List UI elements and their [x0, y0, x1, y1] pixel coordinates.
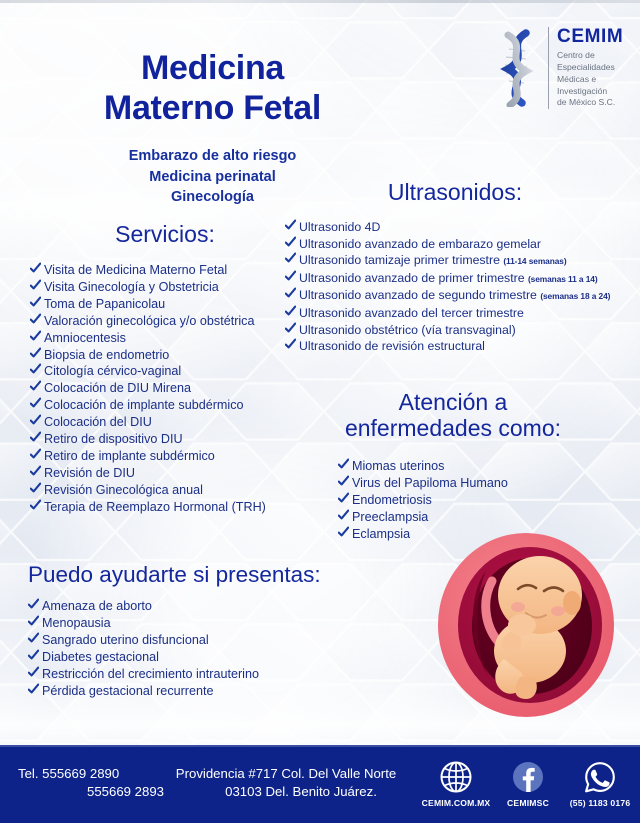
- facebook-link[interactable]: CEMIMSC: [492, 757, 564, 808]
- footer-address-block: Providencia #717 Col. Del Valle Norte 03…: [168, 765, 404, 801]
- list-item-label: Retiro de dispositivo DIU: [44, 432, 183, 446]
- fetus-in-womb-illustration: [434, 527, 618, 723]
- list-item-note: (semanas 18 a 24): [540, 291, 610, 301]
- list-item-label: Ultrasonido avanzado del tercer trimestr…: [299, 306, 524, 320]
- check-arrow-icon: [28, 648, 39, 662]
- list-item-label: Ultrasonido obstétrico (vía transvaginal…: [299, 323, 516, 337]
- ayuda-heading: Puedo ayudarte si presentas:: [28, 562, 321, 587]
- list-item: Retiro de dispositivo DIU: [30, 431, 266, 448]
- top-edge-rule: [0, 0, 640, 3]
- footer-phone-line-2: 555669 2893: [14, 783, 164, 801]
- list-item: Visita de Medicina Materno Fetal: [30, 262, 266, 279]
- check-arrow-icon: [30, 362, 41, 376]
- list-item-label: Ultrasonido 4D: [299, 220, 380, 234]
- check-arrow-icon: [30, 464, 41, 478]
- dna-helix-icon: [492, 29, 540, 107]
- list-item: Biopsia de endometrio: [30, 347, 266, 364]
- list-item: Endometriosis: [338, 492, 508, 509]
- list-item: Valoración ginecológica y/o obstétrica: [30, 313, 266, 330]
- list-item-label: Revisión de DIU: [44, 466, 135, 480]
- list-item-label: Endometriosis: [352, 493, 432, 507]
- list-item-label: Preeclampsia: [352, 510, 428, 524]
- logo-text-block: CEMIM Centro de Especialidades Médicas e…: [548, 27, 623, 109]
- list-item: Preeclampsia: [338, 509, 508, 526]
- logo-tagline-line-5: de México S.C.: [557, 97, 623, 109]
- check-arrow-icon: [30, 413, 41, 427]
- list-item: Visita Ginecología y Obstetricia: [30, 279, 266, 296]
- check-arrow-icon: [30, 498, 41, 512]
- list-item-label: Visita Ginecología y Obstetricia: [44, 280, 219, 294]
- list-item: Terapia de Reemplazo Hormonal (TRH): [30, 499, 266, 516]
- list-item-label: Ultrasonido tamizaje primer trimestre: [299, 253, 500, 267]
- list-item: Colocación de DIU Mirena: [30, 380, 266, 397]
- check-arrow-icon: [30, 329, 41, 343]
- check-arrow-icon: [30, 295, 41, 309]
- enfermedades-heading: Atención a enfermedades como:: [318, 390, 588, 442]
- check-arrow-icon: [28, 665, 39, 679]
- check-arrow-icon: [285, 337, 296, 351]
- list-item: Colocación del DIU: [30, 414, 266, 431]
- list-item-label: Ultrasonido avanzado de embarazo gemelar: [299, 237, 541, 251]
- servicios-list: Visita de Medicina Materno FetalVisita G…: [30, 262, 266, 516]
- ayuda-list: Amenaza de abortoMenopausiaSangrado uter…: [28, 598, 259, 699]
- website-link[interactable]: CEMIM.COM.MX: [420, 757, 492, 808]
- list-item: Citología cérvico-vaginal: [30, 363, 266, 380]
- ultrasonidos-list: Ultrasonido 4DUltrasonido avanzado de em…: [285, 219, 610, 355]
- check-arrow-icon: [30, 481, 41, 495]
- servicios-heading: Servicios:: [40, 222, 290, 248]
- list-item-label: Citología cérvico-vaginal: [44, 364, 181, 378]
- list-item: Amenaza de aborto: [28, 598, 259, 615]
- logo-tagline: Centro de Especialidades Médicas e Inves…: [557, 50, 623, 109]
- check-arrow-icon: [338, 474, 349, 488]
- list-item-label: Biopsia de endometrio: [44, 348, 169, 362]
- logo-brand-name: CEMIM: [557, 27, 623, 46]
- list-item: Miomas uterinos: [338, 458, 508, 475]
- cemim-logo: CEMIM Centro de Especialidades Médicas e…: [492, 27, 623, 109]
- whatsapp-label: (55) 1183 0176: [564, 798, 636, 808]
- whatsapp-icon: [564, 757, 636, 797]
- list-item-label: Pérdida gestacional recurrente: [42, 684, 214, 698]
- check-arrow-icon: [30, 346, 41, 360]
- check-arrow-icon: [338, 457, 349, 471]
- whatsapp-link[interactable]: (55) 1183 0176: [564, 757, 636, 808]
- list-item: Retiro de implante subdérmico: [30, 448, 266, 465]
- list-item-label: Toma de Papanicolau: [44, 297, 165, 311]
- enfermedades-heading-line-2: enfermedades como:: [345, 415, 561, 441]
- check-arrow-icon: [28, 631, 39, 645]
- list-item: Ultrasonido avanzado del tercer trimestr…: [285, 305, 610, 322]
- footer-top-rule: [0, 745, 640, 747]
- list-item: Revisión de DIU: [30, 465, 266, 482]
- list-item: Menopausia: [28, 615, 259, 632]
- list-item-label: Retiro de implante subdérmico: [44, 449, 215, 463]
- footer-social-links: CEMIM.COM.MX CEMIMSC (: [420, 757, 636, 808]
- subtitle-line-1: Embarazo de alto riesgo: [40, 146, 385, 167]
- check-arrow-icon: [285, 218, 296, 232]
- facebook-label: CEMIMSC: [492, 798, 564, 808]
- list-item-label: Colocación de implante subdérmico: [44, 398, 244, 412]
- check-arrow-icon: [285, 304, 296, 318]
- check-arrow-icon: [338, 491, 349, 505]
- list-item: Ultrasonido avanzado de primer trimestre…: [285, 270, 610, 288]
- footer-phone-line-1: Tel. 555669 2890: [14, 765, 164, 783]
- check-arrow-icon: [28, 614, 39, 628]
- check-arrow-icon: [285, 269, 296, 283]
- list-item-label: Restricción del crecimiento intrauterino: [42, 667, 259, 681]
- list-item-label: Sangrado uterino disfuncional: [42, 633, 209, 647]
- logo-tagline-line-4: Investigación: [557, 86, 623, 98]
- check-arrow-icon: [285, 286, 296, 300]
- list-item: Colocación de implante subdérmico: [30, 397, 266, 414]
- check-arrow-icon: [285, 235, 296, 249]
- check-arrow-icon: [285, 251, 296, 265]
- footer-phone-block: Tel. 555669 2890 555669 2893: [14, 765, 164, 801]
- check-arrow-icon: [30, 430, 41, 444]
- list-item-label: Valoración ginecológica y/o obstétrica: [44, 314, 254, 328]
- list-item-label: Amniocentesis: [44, 331, 126, 345]
- list-item: Toma de Papanicolau: [30, 296, 266, 313]
- list-item: Amniocentesis: [30, 330, 266, 347]
- list-item-label: Amenaza de aborto: [42, 599, 152, 613]
- list-item: Ultrasonido de revisión estructural: [285, 338, 610, 355]
- check-arrow-icon: [30, 261, 41, 275]
- list-item-note: (semanas 11 a 14): [528, 274, 598, 284]
- list-item-label: Colocación del DIU: [44, 415, 152, 429]
- page-title-line-1: Medicina: [141, 49, 284, 87]
- logo-tagline-line-2: Especialidades: [557, 62, 623, 74]
- check-arrow-icon: [28, 682, 39, 696]
- footer-contact-bar: Tel. 555669 2890 555669 2893 Providencia…: [0, 745, 640, 823]
- list-item: Ultrasonido avanzado de embarazo gemelar: [285, 236, 610, 253]
- list-item-label: Miomas uterinos: [352, 459, 444, 473]
- list-item-label: Revisión Ginecológica anual: [44, 483, 203, 497]
- list-item-label: Menopausia: [42, 616, 111, 630]
- check-arrow-icon: [30, 278, 41, 292]
- list-item: Pérdida gestacional recurrente: [28, 683, 259, 700]
- footer-address-line-2: 03103 Del. Benito Juárez.: [168, 783, 404, 801]
- footer-address-line-1: Providencia #717 Col. Del Valle Norte: [168, 765, 404, 783]
- list-item: Sangrado uterino disfuncional: [28, 632, 259, 649]
- list-item-label: Virus del Papiloma Humano: [352, 476, 508, 490]
- check-arrow-icon: [28, 597, 39, 611]
- list-item-label: Diabetes gestacional: [42, 650, 159, 664]
- check-arrow-icon: [30, 379, 41, 393]
- list-item-label: Ultrasonido avanzado de segundo trimestr…: [299, 288, 537, 302]
- list-item-label: Terapia de Reemplazo Hormonal (TRH): [44, 500, 266, 514]
- list-item: Ultrasonido avanzado de segundo trimestr…: [285, 287, 610, 305]
- list-item-label: Ultrasonido de revisión estructural: [299, 339, 485, 353]
- list-item-label: Colocación de DIU Mirena: [44, 381, 191, 395]
- website-label: CEMIM.COM.MX: [420, 798, 492, 808]
- list-item: Revisión Ginecológica anual: [30, 482, 266, 499]
- check-arrow-icon: [30, 312, 41, 326]
- list-item: Diabetes gestacional: [28, 649, 259, 666]
- poster-canvas: Medicina Materno Fetal Embarazo de alto …: [0, 0, 640, 823]
- check-arrow-icon: [285, 321, 296, 335]
- logo-tagline-line-3: Médicas e: [557, 74, 623, 86]
- list-item-note: (11-14 semanas): [503, 256, 566, 266]
- list-item: Ultrasonido tamizaje primer trimestre (1…: [285, 252, 610, 270]
- logo-tagline-line-1: Centro de: [557, 50, 623, 62]
- facebook-icon: [492, 757, 564, 797]
- list-item: Restricción del crecimiento intrauterino: [28, 666, 259, 683]
- check-arrow-icon: [338, 525, 349, 539]
- list-item: Ultrasonido 4D: [285, 219, 610, 236]
- list-item: Virus del Papiloma Humano: [338, 475, 508, 492]
- check-arrow-icon: [30, 396, 41, 410]
- list-item-label: Ultrasonido avanzado de primer trimestre: [299, 271, 525, 285]
- ultrasonidos-heading: Ultrasonidos:: [330, 180, 580, 206]
- list-item-label: Visita de Medicina Materno Fetal: [44, 263, 227, 277]
- page-title-line-2: Materno Fetal: [40, 88, 385, 128]
- check-arrow-icon: [338, 508, 349, 522]
- check-arrow-icon: [30, 447, 41, 461]
- globe-icon: [420, 757, 492, 797]
- list-item-label: Eclampsia: [352, 527, 410, 541]
- list-item: Ultrasonido obstétrico (vía transvaginal…: [285, 322, 610, 339]
- page-title: Medicina Materno Fetal: [40, 48, 385, 128]
- enfermedades-heading-line-1: Atención a: [399, 389, 508, 415]
